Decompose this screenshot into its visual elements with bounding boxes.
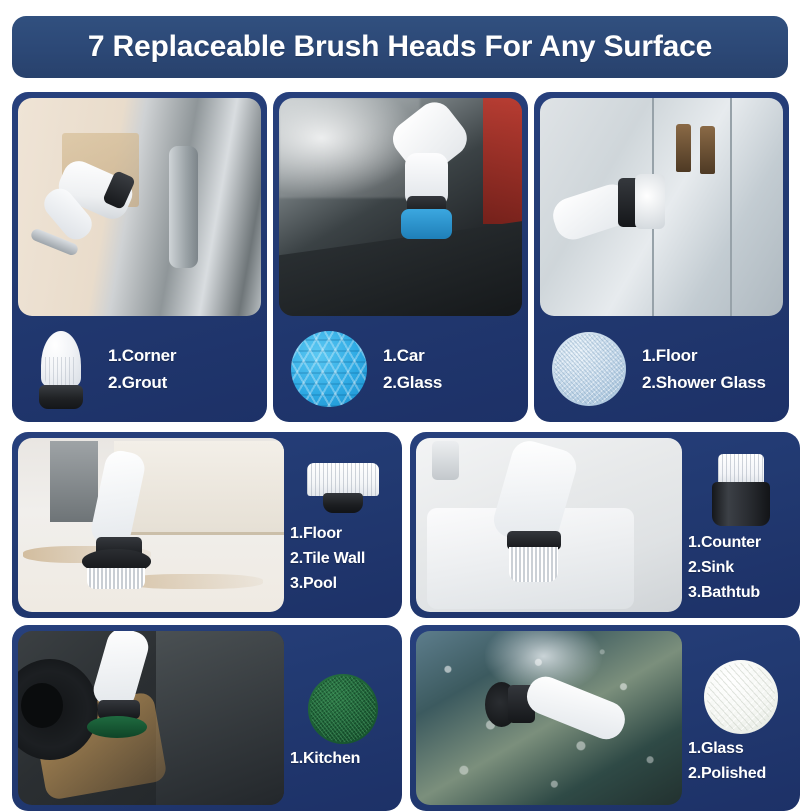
card-info-panel: 1.Floor 2.Tile Wall 3.Pool	[284, 432, 402, 618]
hexagon-polishing-pad-icon	[291, 331, 367, 407]
use-case-label: 2.Shower Glass	[642, 373, 766, 393]
card-info-panel: 1.Kitchen	[284, 625, 402, 811]
photo-car-windshield-washing	[279, 98, 522, 316]
flat-disc-brush-head-icon	[301, 463, 385, 519]
card-info-panel: 1.Counter 2.Sink 3.Bathtub	[682, 432, 800, 618]
card-info-panel: 1.Corner 2.Grout	[12, 316, 267, 422]
use-case-labels: 1.Floor 2.Tile Wall 3.Pool	[284, 525, 365, 593]
page-title: 7 Replaceable Brush Heads For Any Surfac…	[88, 30, 712, 64]
use-case-label: 2.Tile Wall	[290, 550, 365, 568]
use-case-label: 1.Kitchen	[290, 750, 360, 768]
card-floor-shower-glass[interactable]: 1.Floor 2.Shower Glass	[534, 92, 789, 422]
card-info-panel: 1.Floor 2.Shower Glass	[534, 316, 789, 422]
use-case-labels: 1.Floor 2.Shower Glass	[642, 346, 766, 393]
cylinder-brush-head-icon	[708, 454, 774, 528]
photo-shower-glass-door-cleaning	[540, 98, 783, 316]
use-case-label: 2.Grout	[108, 373, 176, 393]
use-case-label: 1.Glass	[688, 740, 766, 758]
card-floor-tile-pool[interactable]: 1.Floor 2.Tile Wall 3.Pool	[12, 432, 402, 618]
microfiber-pad-icon	[552, 332, 626, 406]
use-case-labels: 1.Car 2.Glass	[383, 346, 442, 393]
cone-brush-head-icon	[30, 329, 92, 409]
card-corner-grout[interactable]: 1.Corner 2.Grout	[12, 92, 267, 422]
use-case-labels: 1.Glass 2.Polished	[682, 740, 766, 783]
use-case-label: 2.Glass	[383, 373, 442, 393]
photo-refrigerator-door-corner-cleaning	[18, 98, 261, 316]
product-infographic: 7 Replaceable Brush Heads For Any Surfac…	[0, 0, 800, 800]
use-case-label: 2.Sink	[688, 559, 761, 577]
use-case-label: 3.Pool	[290, 575, 365, 593]
use-case-label: 3.Bathtub	[688, 584, 761, 602]
use-case-label: 1.Floor	[642, 346, 766, 366]
card-info-panel: 1.Glass 2.Polished	[682, 625, 800, 811]
use-case-label: 1.Counter	[688, 534, 761, 552]
card-glass-polished[interactable]: 1.Glass 2.Polished	[410, 625, 800, 811]
use-case-label: 2.Polished	[688, 765, 766, 783]
use-case-labels: 1.Kitchen	[284, 750, 360, 768]
header-banner: 7 Replaceable Brush Heads For Any Surfac…	[12, 16, 788, 78]
card-counter-sink-bathtub[interactable]: 1.Counter 2.Sink 3.Bathtub	[410, 432, 800, 618]
use-case-label: 1.Floor	[290, 525, 365, 543]
photo-gas-stovetop-grease-scrubbing	[18, 631, 284, 805]
photo-kitchen-tile-floor-scrubbing	[18, 438, 284, 612]
use-case-label: 1.Car	[383, 346, 442, 366]
use-case-labels: 1.Corner 2.Grout	[108, 346, 176, 393]
photo-bathroom-sink-basin-cleaning	[416, 438, 682, 612]
card-kitchen[interactable]: 1.Kitchen	[12, 625, 402, 811]
use-case-label: 1.Corner	[108, 346, 176, 366]
photo-wet-window-glass-cleaning	[416, 631, 682, 805]
card-info-panel: 1.Car 2.Glass	[273, 316, 528, 422]
green-scouring-pad-icon	[308, 674, 378, 744]
use-case-labels: 1.Counter 2.Sink 3.Bathtub	[682, 534, 761, 602]
white-felt-polishing-pad-icon	[704, 660, 778, 734]
card-car-glass[interactable]: 1.Car 2.Glass	[273, 92, 528, 422]
